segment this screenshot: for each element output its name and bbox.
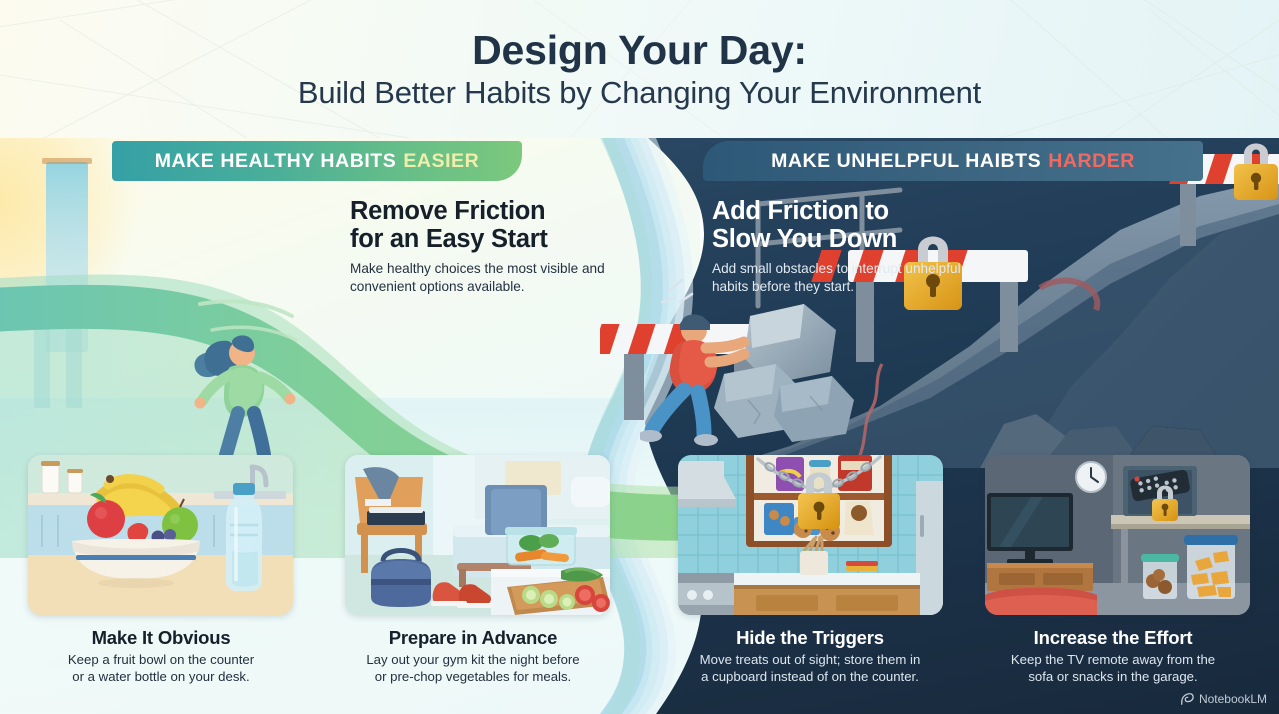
locked-cupboard-image	[678, 455, 943, 615]
page-subtitle: Build Better Habits by Changing Your Env…	[298, 76, 981, 110]
notebooklm-watermark: NotebookLM	[1180, 692, 1267, 706]
caption-line2: or a water bottle on your desk.	[72, 669, 249, 684]
banner-left-highlight: EASIER	[403, 150, 479, 173]
caption-body: Keep a fruit bowl on the counter or a wa…	[11, 652, 311, 685]
right-headline-block: Add Friction to Slow You Down Add small …	[712, 198, 992, 296]
banner-left-text: MAKE HEALTHY HABITS	[155, 150, 397, 173]
right-headline-line1: Add Friction to	[712, 197, 889, 225]
gym-bag-meal-prep-image	[345, 455, 610, 615]
caption-title: Hide the Triggers	[660, 628, 960, 648]
right-headline-line2: Slow You Down	[712, 225, 897, 253]
caption-make-it-obvious: Make It Obvious Keep a fruit bowl on the…	[11, 628, 311, 686]
left-headline-block: Remove Friction for an Easy Start Make h…	[350, 198, 610, 296]
banner-right-highlight: HARDER	[1048, 150, 1135, 173]
right-headline: Add Friction to Slow You Down	[712, 198, 992, 253]
caption-line1: Lay out your gym kit the night before	[366, 652, 579, 667]
title-block: Design Your Day: Build Better Habits by …	[0, 0, 1279, 140]
caption-body: Move treats out of sight; store them in …	[660, 652, 960, 685]
banner-right-text: MAKE UNHELPFUL HAIBTS	[771, 150, 1041, 173]
fruit-bowl-kitchen-image	[28, 455, 293, 615]
caption-line2: a cupboard instead of on the counter.	[701, 669, 919, 684]
caption-body: Keep the TV remote away from the sofa or…	[963, 652, 1263, 685]
caption-prepare-in-advance: Prepare in Advance Lay out your gym kit …	[323, 628, 623, 686]
caption-line1: Keep a fruit bowl on the counter	[68, 652, 254, 667]
banner-make-unhelpful-habits-harder: MAKE UNHELPFUL HAIBTS HARDER	[703, 141, 1203, 181]
page-title: Design Your Day:	[472, 29, 807, 72]
caption-hide-the-triggers: Hide the Triggers Move treats out of sig…	[660, 628, 960, 686]
tv-locked-remote-image	[985, 455, 1250, 615]
infographic-poster: Design Your Day: Build Better Habits by …	[0, 0, 1279, 714]
left-headline-line1: Remove Friction	[350, 197, 545, 225]
padlock-icon	[1234, 144, 1278, 201]
person-pushing-boulders	[640, 268, 880, 458]
caption-increase-the-effort: Increase the Effort Keep the TV remote a…	[963, 628, 1263, 686]
caption-body: Lay out your gym kit the night before or…	[323, 652, 623, 685]
card-prepare-in-advance	[345, 455, 610, 615]
card-hide-the-triggers	[678, 455, 943, 615]
watermark-label: NotebookLM	[1199, 692, 1267, 706]
header-band: Design Your Day: Build Better Habits by …	[0, 0, 1279, 140]
caption-title: Make It Obvious	[11, 628, 311, 648]
right-headline-body: Add small obstacles to interrupt unhelpf…	[712, 260, 992, 296]
card-increase-the-effort	[985, 455, 1250, 615]
caption-title: Prepare in Advance	[323, 628, 623, 648]
caption-title: Increase the Effort	[963, 628, 1263, 648]
caption-line2: sofa or snacks in the garage.	[1028, 669, 1197, 684]
card-make-it-obvious	[28, 455, 293, 615]
caption-line1: Move treats out of sight; store them in	[700, 652, 921, 667]
caption-line2: or pre-chop vegetables for meals.	[375, 669, 571, 684]
notebooklm-spiral-icon	[1180, 692, 1194, 706]
banner-make-healthy-habits-easier: MAKE HEALTHY HABITS EASIER	[112, 141, 522, 181]
left-headline-body: Make healthy choices the most visible an…	[350, 260, 610, 296]
caption-line1: Keep the TV remote away from the	[1011, 652, 1215, 667]
left-headline-line2: for an Easy Start	[350, 225, 548, 253]
left-headline: Remove Friction for an Easy Start	[350, 198, 610, 253]
